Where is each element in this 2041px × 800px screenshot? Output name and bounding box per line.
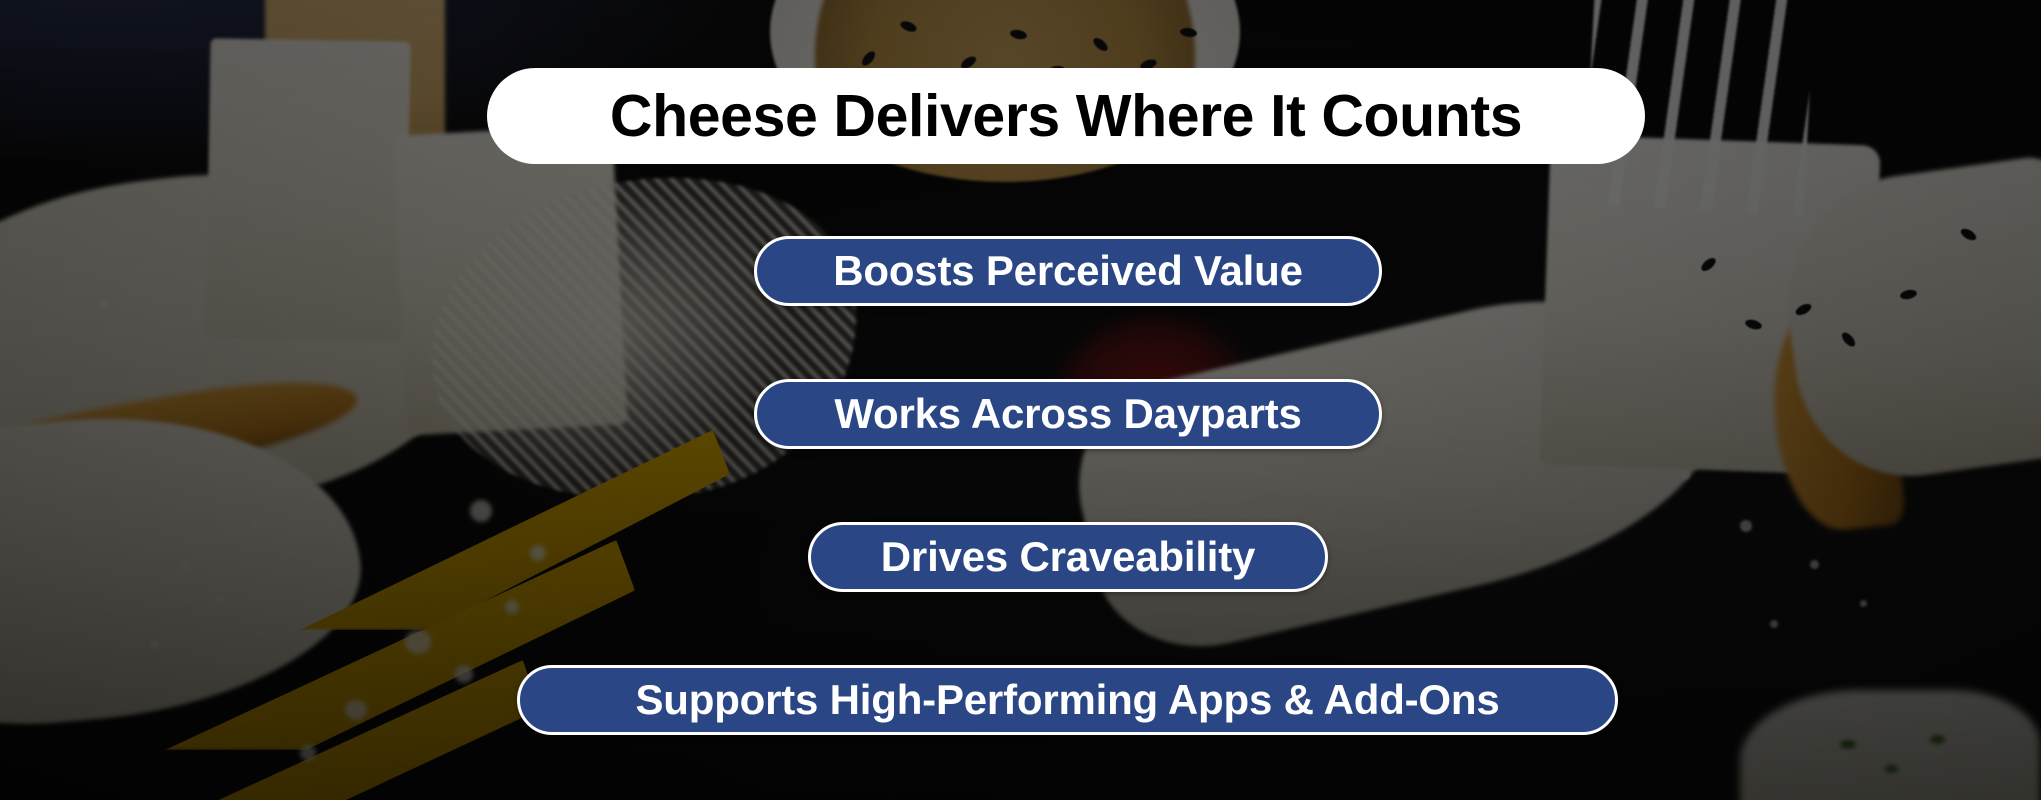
benefit-label: Drives Craveability: [881, 536, 1255, 578]
slide-title-pill: Cheese Delivers Where It Counts: [487, 68, 1645, 164]
slide-content: Cheese Delivers Where It Counts Boosts P…: [0, 0, 2041, 800]
benefit-label: Works Across Dayparts: [834, 393, 1301, 435]
slide-title: Cheese Delivers Where It Counts: [610, 87, 1522, 146]
slide-canvas: Cheese Delivers Where It Counts Boosts P…: [0, 0, 2041, 800]
benefit-pill-supports-high-performing-apps-add-ons[interactable]: Supports High-Performing Apps & Add-Ons: [517, 665, 1618, 735]
benefit-label: Supports High-Performing Apps & Add-Ons: [635, 679, 1499, 721]
benefit-pill-boosts-perceived-value[interactable]: Boosts Perceived Value: [754, 236, 1382, 306]
benefit-pill-works-across-dayparts[interactable]: Works Across Dayparts: [754, 379, 1382, 449]
benefit-pill-drives-craveability[interactable]: Drives Craveability: [808, 522, 1328, 592]
benefit-label: Boosts Perceived Value: [833, 250, 1303, 292]
